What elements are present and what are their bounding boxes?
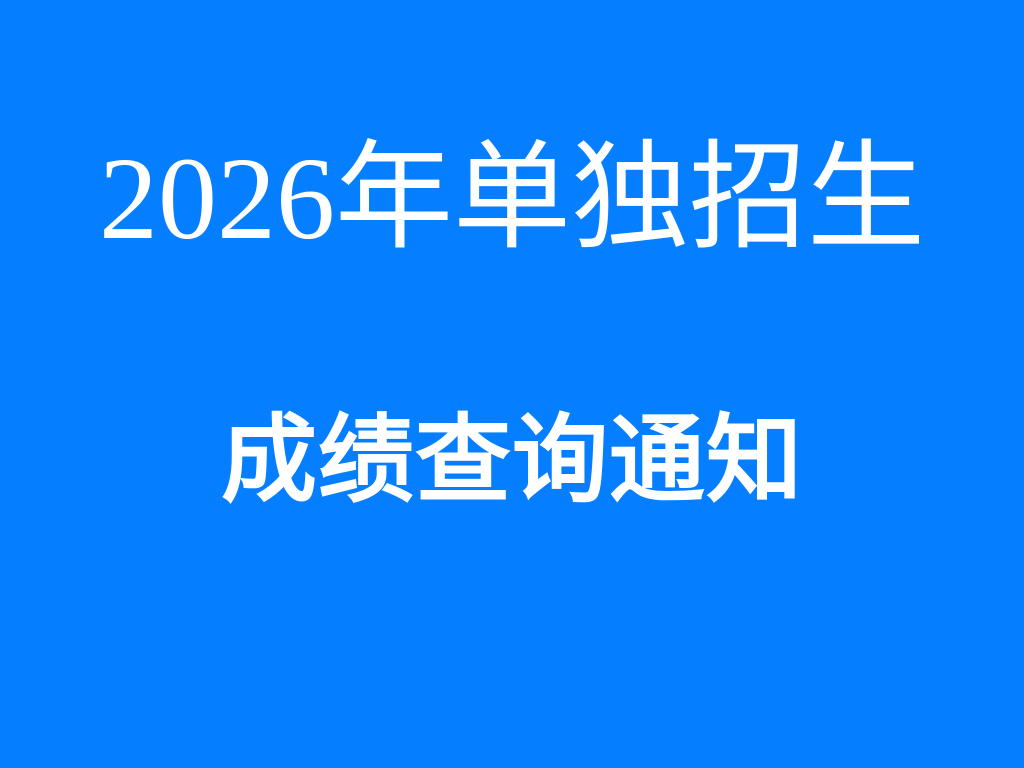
headline-line-2: 成绩查询通知 xyxy=(0,413,1024,509)
poster-text-block: 2026年单独招生 成绩查询通知 xyxy=(0,0,1024,509)
announcement-poster: 2026年单独招生 成绩查询通知 xyxy=(0,0,1024,768)
headline-line-1: 2026年单独招生 xyxy=(0,140,1024,258)
